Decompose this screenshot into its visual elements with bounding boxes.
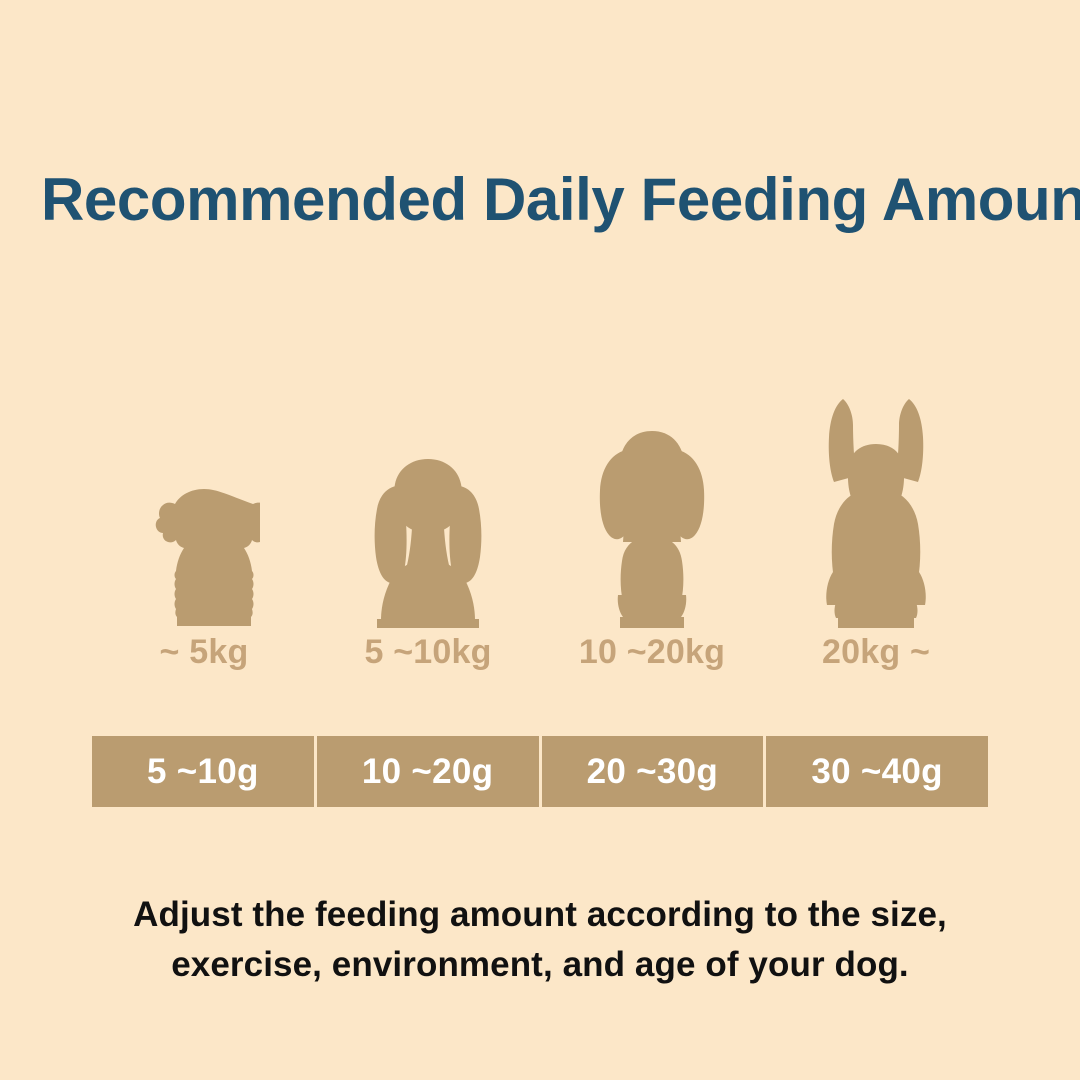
dog-size-item-4 [764,380,988,628]
dog-size-item-2 [316,380,540,628]
amount-cell-4: 30 ~40g [766,736,988,807]
footer-note-line-2: exercise, environment, and age of your d… [90,940,990,990]
weight-label-3: 10 ~20kg [540,633,764,672]
feeding-amount-bar: 5 ~10g 10 ~20g 20 ~30g 30 ~40g [92,736,988,807]
page-title: Recommended Daily Feeding Amount [41,168,1051,231]
poodle-dog-silhouette-icon [355,456,501,628]
dog-size-item-1 [92,380,316,628]
weight-label-row: ~ 5kg 5 ~10kg 10 ~20kg 20kg ~ [92,633,988,672]
pointed-ear-dog-silhouette-icon [810,396,942,628]
dog-silhouette-row [92,380,988,628]
footer-note: Adjust the feeding amount according to t… [90,890,990,989]
weight-label-1: ~ 5kg [92,633,316,672]
dog-size-item-3 [540,380,764,628]
footer-note-line-1: Adjust the feeding amount according to t… [90,890,990,940]
floppy-ear-dog-silhouette-icon [596,428,708,628]
weight-label-2: 5 ~10kg [316,633,540,672]
small-fluffy-dog-silhouette-icon [148,487,260,628]
amount-cell-3: 20 ~30g [542,736,767,807]
amount-cell-2: 10 ~20g [317,736,542,807]
weight-label-4: 20kg ~ [764,633,988,672]
feeding-guide-infographic: Recommended Daily Feeding Amount [0,0,1080,1080]
amount-cell-1: 5 ~10g [92,736,317,807]
